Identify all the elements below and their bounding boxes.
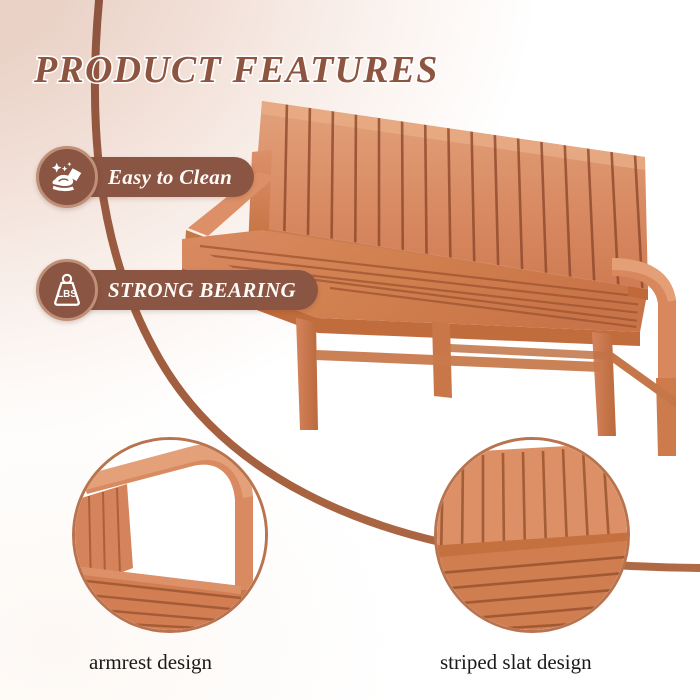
feature-badge-strong-bearing[interactable]: LBS STRONG BEARING [36,259,318,321]
inset-caption-striped-slat: striped slat design [440,650,592,675]
badge-pill: STRONG BEARING [60,270,318,310]
badge-icon-circle: LBS [36,259,98,321]
feature-badge-easy-to-clean[interactable]: Easy to Clean [36,146,254,208]
page-title: PRODUCT FEATURES [34,48,439,92]
detail-inset-striped-slat[interactable] [434,437,630,633]
wipe-clean-icon [48,158,86,196]
feature-label: STRONG BEARING [108,278,296,303]
slat-closeup-image [437,440,627,630]
feature-label: Easy to Clean [108,165,232,190]
svg-text:LBS: LBS [57,289,77,300]
armrest-closeup-image [75,440,265,630]
product-feature-infographic: PRODUCT FEATURES Easy to Clean [0,0,700,700]
badge-icon-circle [36,146,98,208]
detail-inset-armrest[interactable] [72,437,268,633]
weight-lbs-icon: LBS [48,271,86,309]
inset-caption-armrest: armrest design [89,650,212,675]
